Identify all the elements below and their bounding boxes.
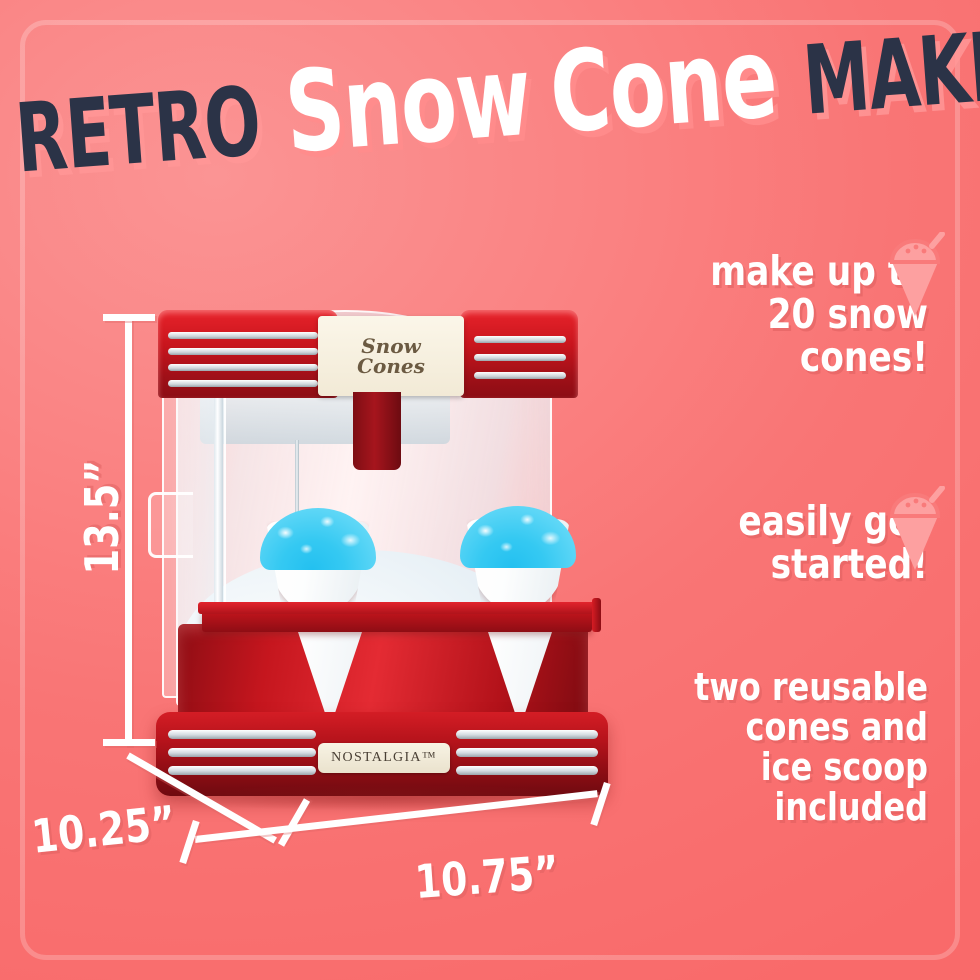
feature-accessories-line-2: cones and	[676, 708, 928, 748]
door-handle	[148, 492, 193, 558]
height-dimension-label: 13.5”	[75, 460, 129, 575]
chrome-slat	[474, 372, 566, 379]
height-dimension-cap-top	[103, 314, 155, 321]
head-housing-left	[158, 310, 338, 398]
chrome-slat	[168, 766, 316, 775]
machine-head: Snow Cones	[158, 310, 578, 400]
product-image: Snow Cones NOSTALG	[140, 280, 620, 820]
snow-cone-cup	[258, 508, 378, 613]
feature-accessories-text: two reusable cones and ice scoop include…	[628, 668, 928, 828]
badge-line-2: Cones	[357, 354, 425, 378]
chrome-slat	[168, 348, 318, 355]
snow-cone-icon	[884, 232, 946, 320]
title-word-snow: Snow	[281, 31, 535, 179]
blue-shaved-ice	[260, 508, 376, 570]
brand-name: NOSTALGIA™	[331, 750, 437, 766]
chrome-slat	[168, 380, 318, 387]
blue-shaved-ice	[460, 506, 576, 568]
chrome-slat	[474, 336, 566, 343]
snow-cones-badge: Snow Cones	[318, 316, 464, 396]
serving-tray-lip	[592, 598, 601, 632]
snow-cone-cup	[458, 506, 578, 611]
feature-capacity-line-3: cones!	[676, 336, 928, 379]
product-infographic: RETROSnowConeMAKER make up to 20 snow co…	[0, 0, 980, 980]
snow-cone-icon	[884, 486, 946, 574]
chrome-slat	[456, 766, 598, 775]
feature-accessories-line-3: ice scoop	[676, 748, 928, 788]
chrome-slat	[168, 730, 316, 739]
feature-accessories-line-1: two reusable	[676, 668, 928, 708]
title-word-retro: RETRO	[12, 65, 264, 193]
chrome-slat	[456, 730, 598, 739]
dispenser-spout	[353, 392, 401, 470]
chrome-slat	[474, 354, 566, 361]
title-word-cone: Cone	[546, 13, 781, 159]
head-housing-right	[460, 310, 578, 398]
depth-dimension-label: 10.25”	[29, 795, 178, 864]
chrome-slat	[456, 748, 598, 757]
brand-nameplate: NOSTALGIA™	[318, 743, 450, 773]
serving-tray-surface	[198, 602, 596, 614]
feature-ease-text: easily get started!	[628, 500, 928, 586]
chrome-slat	[168, 364, 318, 371]
chrome-slat	[168, 748, 316, 757]
chrome-slat	[168, 332, 318, 339]
height-dimension-cap-bottom	[103, 739, 155, 746]
title-word-maker: MAKER	[799, 7, 980, 137]
feature-accessories-line-4: included	[676, 788, 928, 828]
width-dimension-label: 10.75”	[413, 845, 561, 909]
feature-capacity-text: make up to 20 snow cones!	[628, 250, 928, 379]
page-title: RETROSnowConeMAKER	[0, 22, 980, 233]
